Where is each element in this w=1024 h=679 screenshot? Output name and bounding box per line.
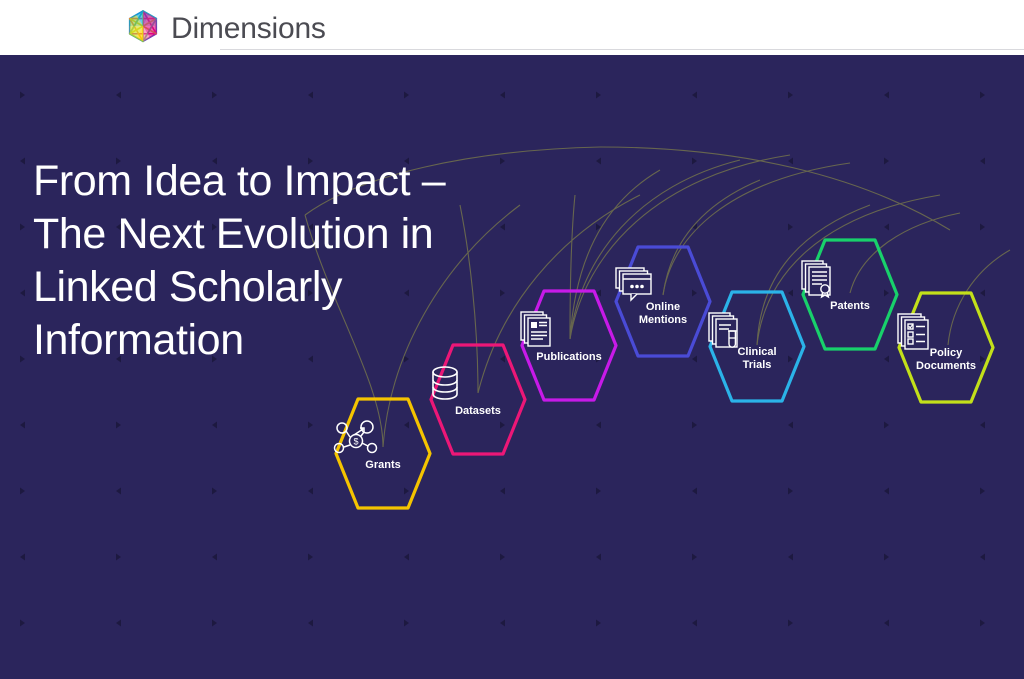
node-label: Patents (800, 300, 900, 313)
hero-panel: From Idea to Impact – The Next Evolution… (0, 55, 1024, 679)
node-clinical-trials[interactable]: Clinical Trials (707, 289, 807, 404)
slide-canvas: Dimensions (0, 0, 1024, 679)
node-policy-documents[interactable]: Policy Documents (896, 290, 996, 405)
node-datasets[interactable]: Datasets (428, 342, 528, 457)
node-publications[interactable]: Publications (519, 288, 619, 403)
brand-logo[interactable]: Dimensions (124, 8, 326, 50)
node-label: Policy Documents (896, 347, 996, 373)
policy-documents-checklist-icon (896, 312, 996, 352)
grants-network-dollar-icon: $ (333, 418, 433, 458)
patents-certificate-seal-icon (800, 259, 900, 299)
publications-documents-icon (519, 310, 619, 350)
node-label: Publications (519, 351, 619, 364)
svg-text:$: $ (353, 437, 358, 447)
online-mentions-chat-window-icon (613, 266, 713, 306)
node-label: Grants (333, 459, 433, 472)
node-grants[interactable]: $ Grants (333, 396, 433, 511)
header-divider (220, 49, 1024, 50)
brand-name: Dimensions (171, 14, 326, 44)
clinical-trials-test-tube-icon (707, 311, 807, 351)
datasets-database-icon (428, 364, 528, 404)
node-online-mentions[interactable]: Online Mentions (613, 244, 713, 359)
node-label: Datasets (428, 405, 528, 418)
page-header: Dimensions (0, 0, 1024, 55)
page-title: From Idea to Impact – The Next Evolution… (33, 155, 463, 367)
node-patents[interactable]: Patents (800, 237, 900, 352)
node-label: Clinical Trials (707, 346, 807, 372)
node-label: Online Mentions (613, 301, 713, 327)
dimensions-hexagon-logo-icon (124, 8, 162, 50)
